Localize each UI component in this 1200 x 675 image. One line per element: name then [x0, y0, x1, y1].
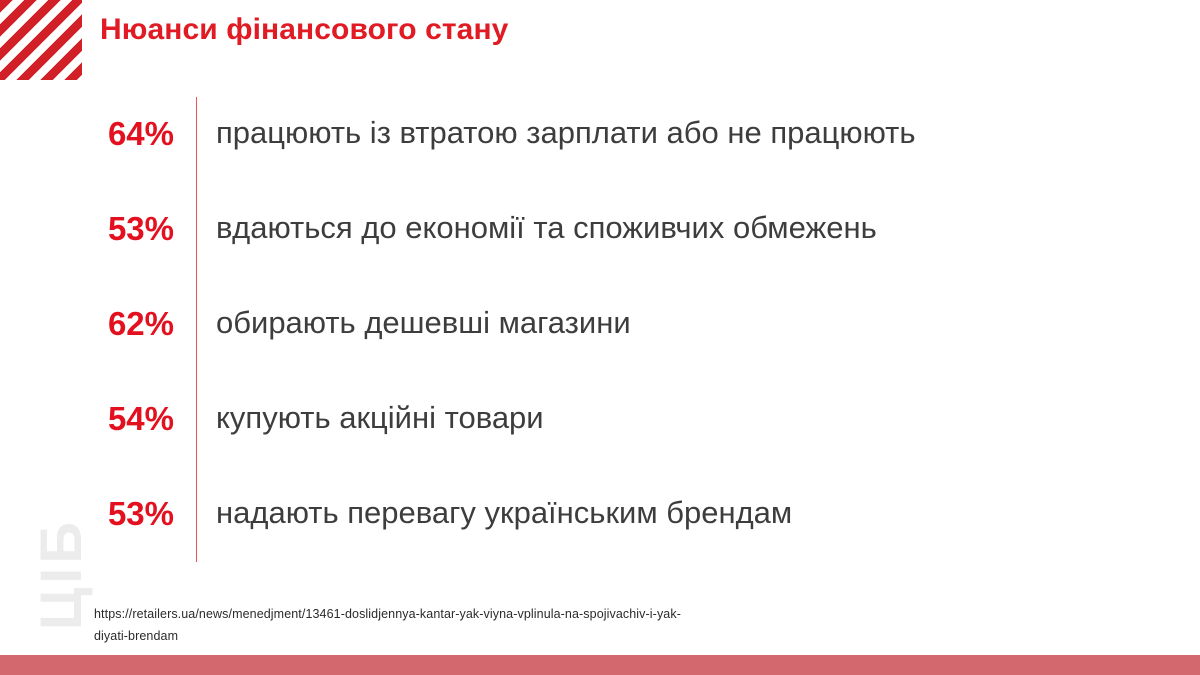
stat-row: 54%купують акційні товари: [0, 388, 1100, 448]
stat-row: 62%обирають дешевші магазини: [0, 293, 1100, 353]
stat-percentage: 53%: [0, 212, 186, 245]
slide-canvas: Нюанси фінансового стану 64%працюють із …: [0, 0, 1200, 675]
page-title: Нюанси фінансового стану: [100, 13, 508, 47]
diagonal-stripes-decoration: [0, 0, 82, 80]
stat-label: обирають дешевші магазини: [186, 306, 631, 340]
stat-row: 64%працюють із втратою зарплати або не п…: [0, 103, 1100, 163]
watermark-logo: ЦІБ: [33, 494, 91, 654]
stat-label: вдаються до економії та споживчих обмеже…: [186, 211, 877, 245]
stat-label: надають перевагу українським брендам: [186, 496, 792, 530]
stat-percentage: 54%: [0, 402, 186, 435]
stat-label: купують акційні товари: [186, 401, 544, 435]
stat-percentage: 64%: [0, 117, 186, 150]
stat-row: 53%надають перевагу українським брендам: [0, 483, 1100, 543]
stat-label: працюють із втратою зарплати або не прац…: [186, 116, 916, 150]
source-url[interactable]: https://retailers.ua/news/menedjment/134…: [94, 604, 694, 648]
bottom-accent-bar: [0, 655, 1200, 675]
stat-row: 53%вдаються до економії та споживчих обм…: [0, 198, 1100, 258]
stat-percentage: 62%: [0, 307, 186, 340]
stats-list: 64%працюють із втратою зарплати або не п…: [0, 97, 1200, 562]
